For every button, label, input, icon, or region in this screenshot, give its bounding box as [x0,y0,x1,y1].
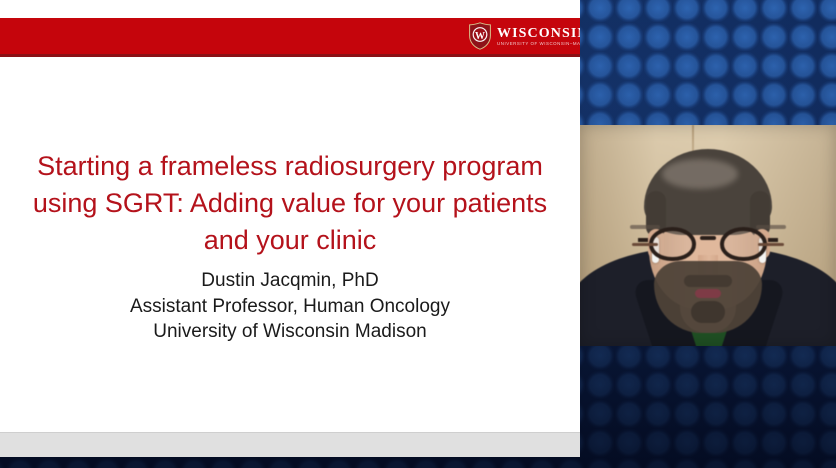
presenter-chin-beard [691,301,725,323]
uw-wordmark-subtext: UNIVERSITY OF WISCONSIN–MADISON [497,41,580,47]
author-name: Dustin Jacqmin, PhD [18,268,562,294]
eyeglass-bridge [700,236,716,240]
slide-header-rule [0,54,580,57]
slide-title: Starting a frameless radiosurgery progra… [18,148,562,259]
meeting-stage: W WISCONSIN UNIVERSITY OF WISCONSIN–MADI… [0,0,836,468]
presenter-mouth [695,289,721,298]
slide-top-margin [0,0,580,18]
slide-title-line-1: Starting a frameless radiosurgery progra… [18,148,562,185]
shared-screen-slide[interactable]: W WISCONSIN UNIVERSITY OF WISCONSIN–MADI… [0,0,580,432]
slide-title-line-2: using SGRT: Adding value for your patien… [18,185,562,222]
uw-wordmark-group: WISCONSIN UNIVERSITY OF WISCONSIN–MADISO… [497,26,580,47]
svg-text:W: W [475,31,485,42]
speaker-video-frame [580,125,836,346]
uw-madison-logo: W WISCONSIN UNIVERSITY OF WISCONSIN–MADI… [468,21,580,51]
author-title: Assistant Professor, Human Oncology [18,294,562,320]
slide-author-block: Dustin Jacqmin, PhD Assistant Professor,… [18,268,562,345]
speaker-video-tile[interactable] [580,125,836,346]
uw-crest-shield-w-icon: W [468,22,492,50]
presenter-eye-right [758,243,784,246]
shared-screen-footer-strip [0,432,580,457]
presenter-hair-highlight [662,159,738,189]
author-affiliation: University of Wisconsin Madison [18,319,562,345]
presenter-eye-left [632,243,658,246]
uw-wordmark-text: WISCONSIN [497,26,580,41]
presenter-mustache [684,275,732,287]
slide-title-line-3: and your clinic [18,222,562,259]
eyeglass-temple-right [768,238,778,242]
eyeglass-temple-left [638,238,648,242]
